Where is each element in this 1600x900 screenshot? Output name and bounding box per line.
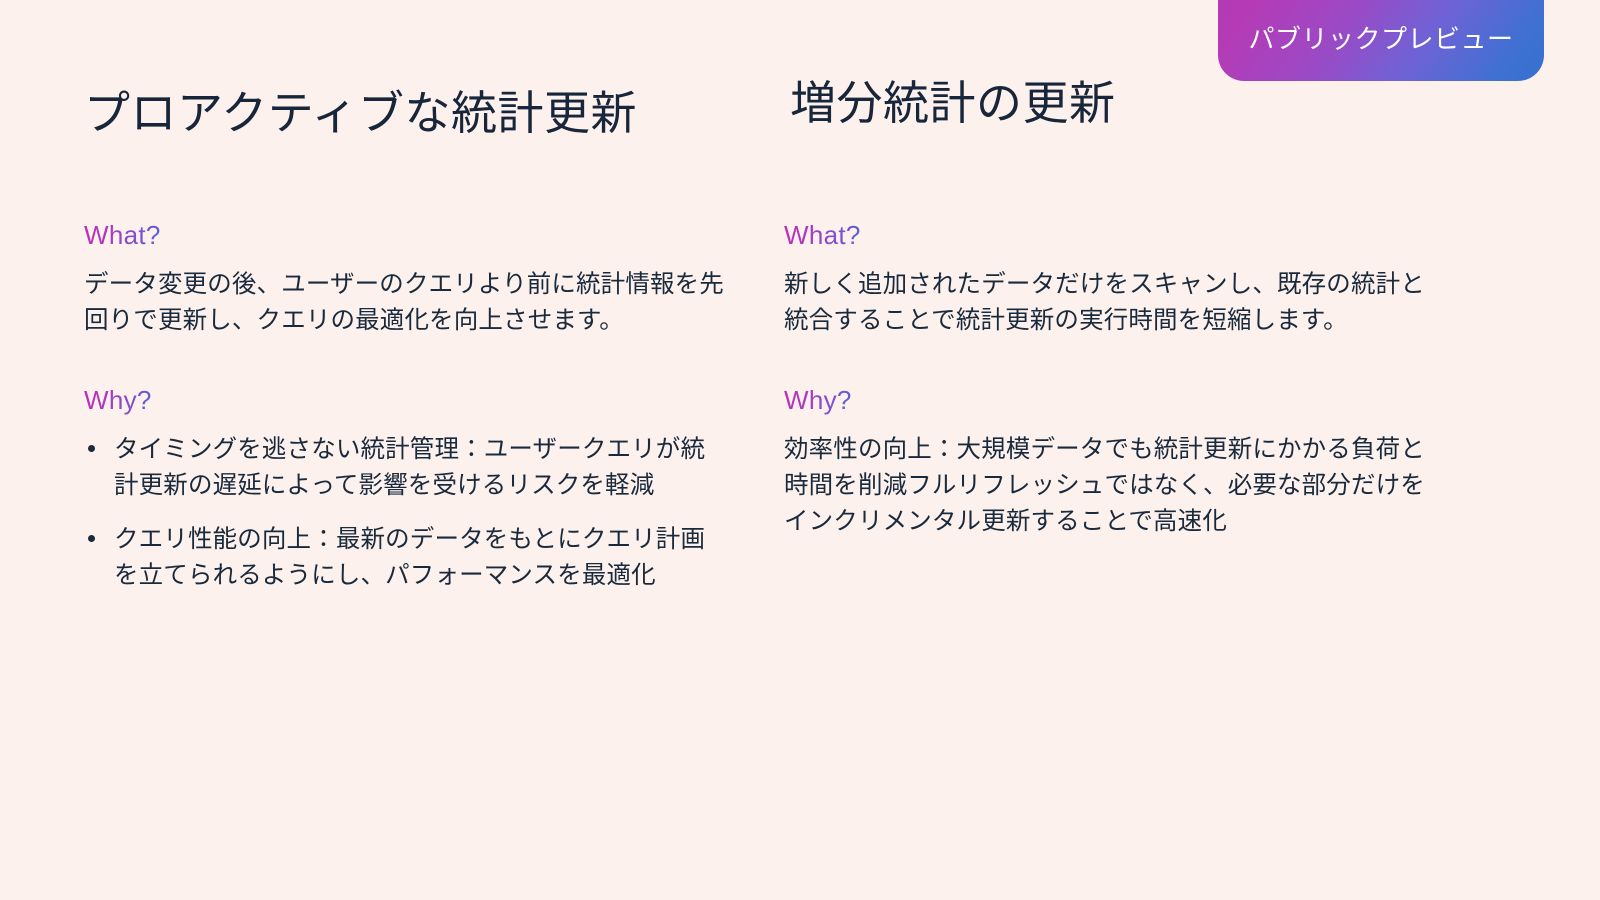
- section-body-what-right: 新しく追加されたデータだけをスキャンし、既存の統計と統合することで統計更新の実行…: [784, 267, 1434, 339]
- section-heading-why-left: Why?: [84, 384, 152, 418]
- bullet-dot-icon: [88, 535, 95, 542]
- section-body-why-right: 効率性の向上：大規模データでも統計更新にかかる負荷と時間を削減フルリフレッシュで…: [784, 432, 1434, 540]
- list-item-label: タイミングを逃さない統計管理：ユーザークエリが統計更新の遅延によって影響を受ける…: [114, 436, 705, 499]
- column-title-left: プロアクティブな統計更新: [84, 86, 637, 140]
- section-why-left: Why? タイミングを逃さない統計管理：ユーザークエリが統計更新の遅延によって影…: [84, 384, 724, 594]
- public-preview-badge-label: パブリックプレビュー: [1248, 26, 1513, 52]
- bullet-list-why-left: タイミングを逃さない統計管理：ユーザークエリが統計更新の遅延によって影響を受ける…: [84, 432, 724, 594]
- public-preview-badge: パブリックプレビュー: [1218, 0, 1544, 81]
- section-body-what-left: データ変更の後、ユーザーのクエリより前に統計情報を先回りで更新し、クエリの最適化…: [84, 267, 724, 339]
- slide-canvas: パブリックプレビュー プロアクティブな統計更新 What? データ変更の後、ユー…: [0, 0, 1600, 900]
- section-what-left: What? データ変更の後、ユーザーのクエリより前に統計情報を先回りで更新し、ク…: [84, 219, 724, 339]
- section-heading-what-left: What?: [84, 219, 161, 253]
- column-title-right: 増分統計の更新: [790, 76, 1116, 130]
- section-what-right: What? 新しく追加されたデータだけをスキャンし、既存の統計と統合することで統…: [784, 219, 1434, 339]
- section-why-right: Why? 効率性の向上：大規模データでも統計更新にかかる負荷と時間を削減フルリフ…: [784, 384, 1434, 540]
- bullet-dot-icon: [88, 445, 95, 452]
- list-item-label: クエリ性能の向上：最新のデータをもとにクエリ計画を立てられるようにし、パフォーマ…: [114, 526, 705, 589]
- section-heading-what-right: What?: [784, 219, 861, 253]
- list-item: クエリ性能の向上：最新のデータをもとにクエリ計画を立てられるようにし、パフォーマ…: [84, 522, 724, 594]
- section-heading-why-right: Why?: [784, 384, 852, 418]
- list-item: タイミングを逃さない統計管理：ユーザークエリが統計更新の遅延によって影響を受ける…: [84, 432, 724, 504]
